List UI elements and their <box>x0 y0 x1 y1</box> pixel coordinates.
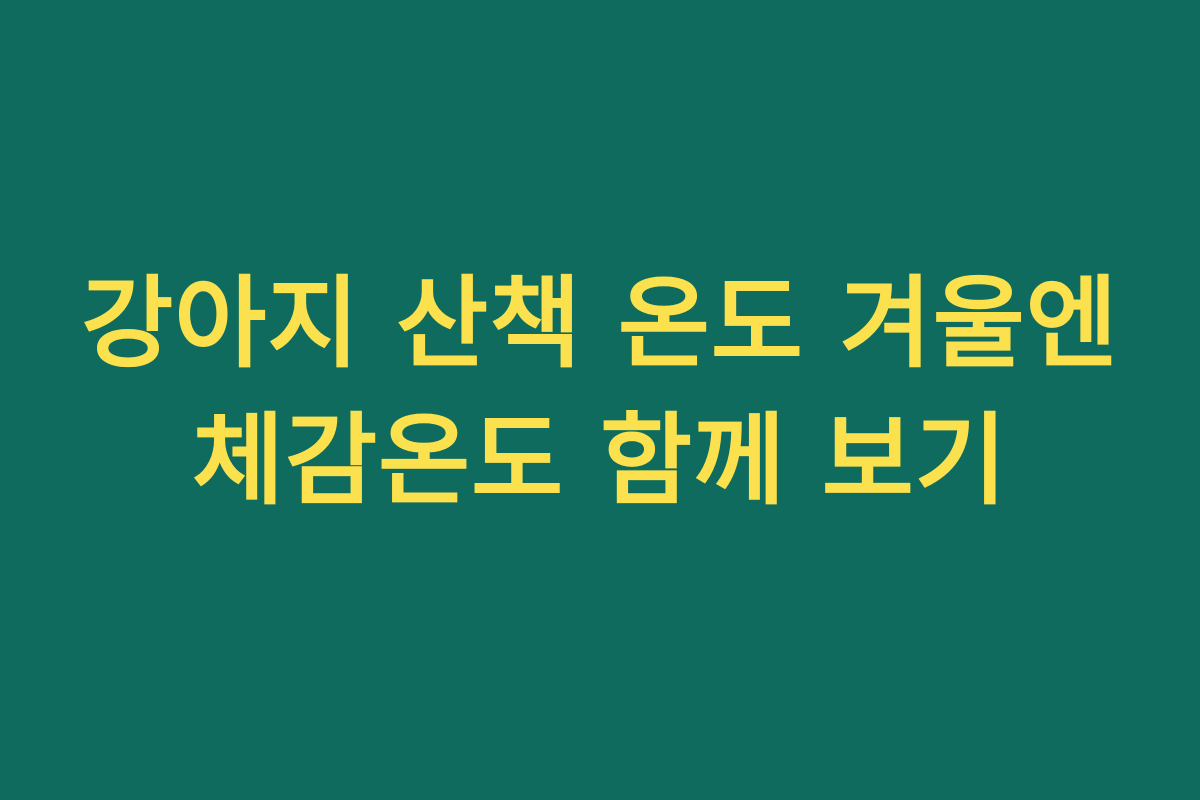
page-title: 강아지 산책 온도 겨울엔 체감온도 함께 보기 <box>0 255 1200 529</box>
title-line-1: 강아지 산책 온도 겨울엔 <box>81 255 1118 392</box>
title-line-2: 체감온도 함께 보기 <box>192 392 1008 529</box>
title-card: 강아지 산책 온도 겨울엔 체감온도 함께 보기 <box>0 0 1200 800</box>
